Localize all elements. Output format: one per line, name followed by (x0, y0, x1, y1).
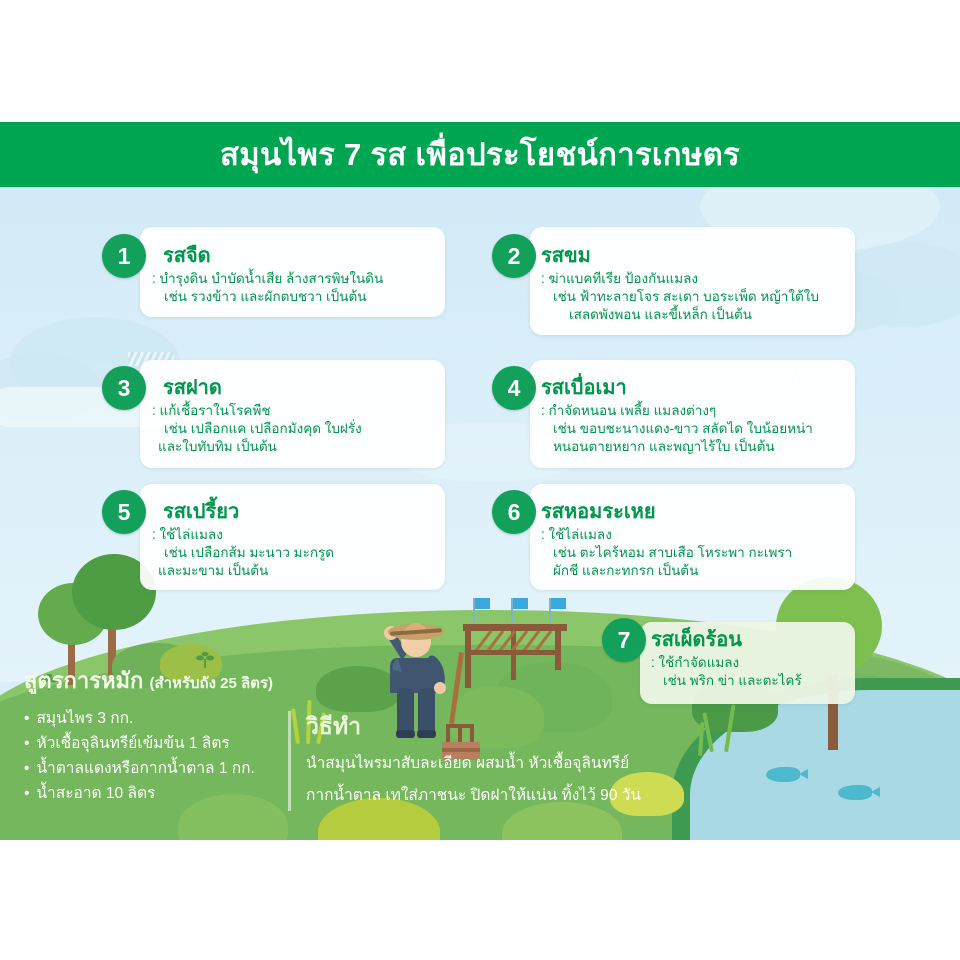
card-5-line-2: เช่น เปลือกส้ม มะนาว มะกรูด (152, 544, 334, 562)
fish-1 (766, 767, 800, 782)
card-1-line-2: เช่น รวงข้าว และผักตบชวา เป็นต้น (152, 288, 383, 306)
badge-5: 5 (102, 490, 146, 534)
badge-6: 6 (492, 490, 536, 534)
card-4-line-1: : กำจัดหนอน เพลี้ย แมลงต่างๆ (541, 402, 813, 420)
howto-line-2: กากน้ำตาล เทใส่ภาชนะ ปิดฝาให้แน่น ทิ้งไว… (306, 783, 656, 809)
card-1-lines: : บำรุงดิน บำบัดน้ำเสีย ล้างสารพิษในดิน … (152, 270, 383, 306)
howto-divider (288, 711, 291, 811)
recipe-heading-sub: (สำหรับถัง 25 ลิตร) (149, 675, 272, 692)
howto-heading: วิธีทำ (306, 709, 656, 745)
flag-1 (473, 598, 475, 624)
card-6-line-3: ผักชี และกะทกรก เป็นต้น (541, 562, 792, 580)
flag-2 (511, 598, 513, 624)
card-7-lines: : ใช้กำจัดแมลง เช่น พริก ข่า และตะไคร้ (651, 654, 802, 690)
howto-line-1: นำสมุนไพรมาสับละเอียด ผสมน้ำ หัวเชื้อจุล… (306, 751, 656, 777)
card-2-line-2: เช่น ฟ้าทะลายโจร สะเดา บอระเพ็ด หญ้าใต้ใ… (541, 288, 819, 306)
card-6-title: รสหอมระเหย (541, 495, 656, 527)
card-3-line-2: เช่น เปลือกแค เปลือกมังคุด ใบฝรั่ง (152, 420, 362, 438)
card-7-title: รสเผ็ดร้อน (651, 623, 742, 655)
card-3-lines: : แก้เชื้อราในโรคพืช เช่น เปลือกแค เปลือ… (152, 402, 362, 456)
card-5-title: รสเปรี้ยว (163, 495, 239, 527)
card-7-line-1: : ใช้กำจัดแมลง (651, 654, 802, 672)
recipe-heading-main: สูตรการหมัก (24, 668, 143, 693)
card-1-line-1: : บำรุงดิน บำบัดน้ำเสีย ล้างสารพิษในดิน (152, 270, 383, 288)
recipe-heading: สูตรการหมัก (สำหรับถัง 25 ลิตร) (24, 663, 644, 698)
card-6-line-2: เช่น ตะไคร้หอม สาบเสือ โหระพา กะเพรา (541, 544, 792, 562)
card-6-lines: : ใช้ไล่แมลง เช่น ตะไคร้หอม สาบเสือ โหระ… (541, 526, 792, 580)
card-5-line-1: : ใช้ไล่แมลง (152, 526, 334, 544)
badge-1: 1 (102, 234, 146, 278)
card-3-line-1: : แก้เชื้อราในโรคพืช (152, 402, 362, 420)
card-4-line-3: หนอนตายหยาก และพญาไร้ใบ เป็นต้น (541, 438, 813, 456)
badge-4: 4 (492, 366, 536, 410)
header-bar: สมุนไพร 7 รส เพื่อประโยชน์การเกษตร (0, 122, 960, 187)
page-title: สมุนไพร 7 รส เพื่อประโยชน์การเกษตร (0, 122, 960, 187)
card-6-line-1: : ใช้ไล่แมลง (541, 526, 792, 544)
howto-block: วิธีทำ นำสมุนไพรมาสับละเอียด ผสมน้ำ หัวเ… (306, 709, 656, 809)
card-1-title: รสจืด (163, 239, 211, 271)
card-2-lines: : ฆ่าแบคทีเรีย ป้องกันแมลง เช่น ฟ้าทะลาย… (541, 270, 819, 324)
badge-7: 7 (602, 618, 646, 662)
fish-2 (838, 785, 872, 800)
card-4-lines: : กำจัดหนอน เพลี้ย แมลงต่างๆ เช่น ขอบชะน… (541, 402, 813, 456)
card-3-title: รสฝาด (163, 371, 222, 403)
card-5-line-3: และมะขาม เป็นต้น (152, 562, 334, 580)
card-7-line-2: เช่น พริก ข่า และตะไคร้ (651, 672, 802, 690)
card-4-title: รสเบื่อเมา (541, 371, 627, 403)
flag-3 (549, 598, 551, 624)
card-4-line-2: เช่น ขอบชะนางแดง-ขาว สลัดได ใบน้อยหน่า (541, 420, 813, 438)
card-5-lines: : ใช้ไล่แมลง เช่น เปลือกส้ม มะนาว มะกรูด… (152, 526, 334, 580)
badge-2: 2 (492, 234, 536, 278)
infographic-poster: 1 รสจืด : บำรุงดิน บำบัดน้ำเสีย ล้างสารพ… (0, 122, 960, 840)
card-2-line-3: เสลดพังพอน และขี้เหล็ก เป็นต้น (541, 306, 819, 324)
badge-3: 3 (102, 366, 146, 410)
card-2-title: รสขม (541, 239, 591, 271)
recipe-block: สูตรการหมัก (สำหรับถัง 25 ลิตร) สมุนไพร … (24, 663, 644, 806)
card-3-line-3: และใบทับทิม เป็นต้น (152, 438, 362, 456)
card-2-line-1: : ฆ่าแบคทีเรีย ป้องกันแมลง (541, 270, 819, 288)
